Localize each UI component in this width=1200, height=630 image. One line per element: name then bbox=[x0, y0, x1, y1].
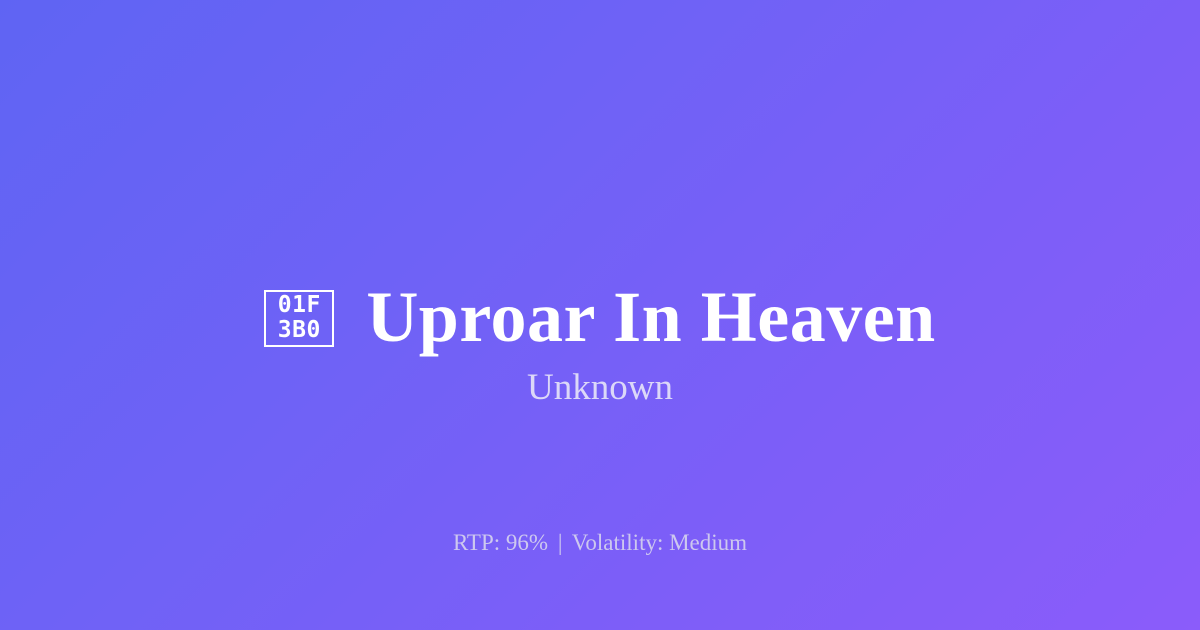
volatility-value: Volatility: Medium bbox=[572, 530, 747, 555]
rtp-value: RTP: 96% bbox=[453, 530, 548, 555]
game-preview-card: 01F 3B0 Uproar In Heaven Unknown RTP: 96… bbox=[0, 0, 1200, 630]
stats-separator: | bbox=[554, 530, 567, 555]
tofu-codepoint-bottom: 3B0 bbox=[278, 318, 321, 343]
slot-machine-icon: 01F 3B0 bbox=[264, 290, 334, 347]
page-title: Uproar In Heaven bbox=[366, 280, 935, 356]
provider-label: Unknown bbox=[0, 366, 1200, 410]
tofu-codepoint-top: 01F bbox=[278, 293, 321, 318]
stats-line: RTP: 96% | Volatility: Medium bbox=[0, 528, 1200, 558]
